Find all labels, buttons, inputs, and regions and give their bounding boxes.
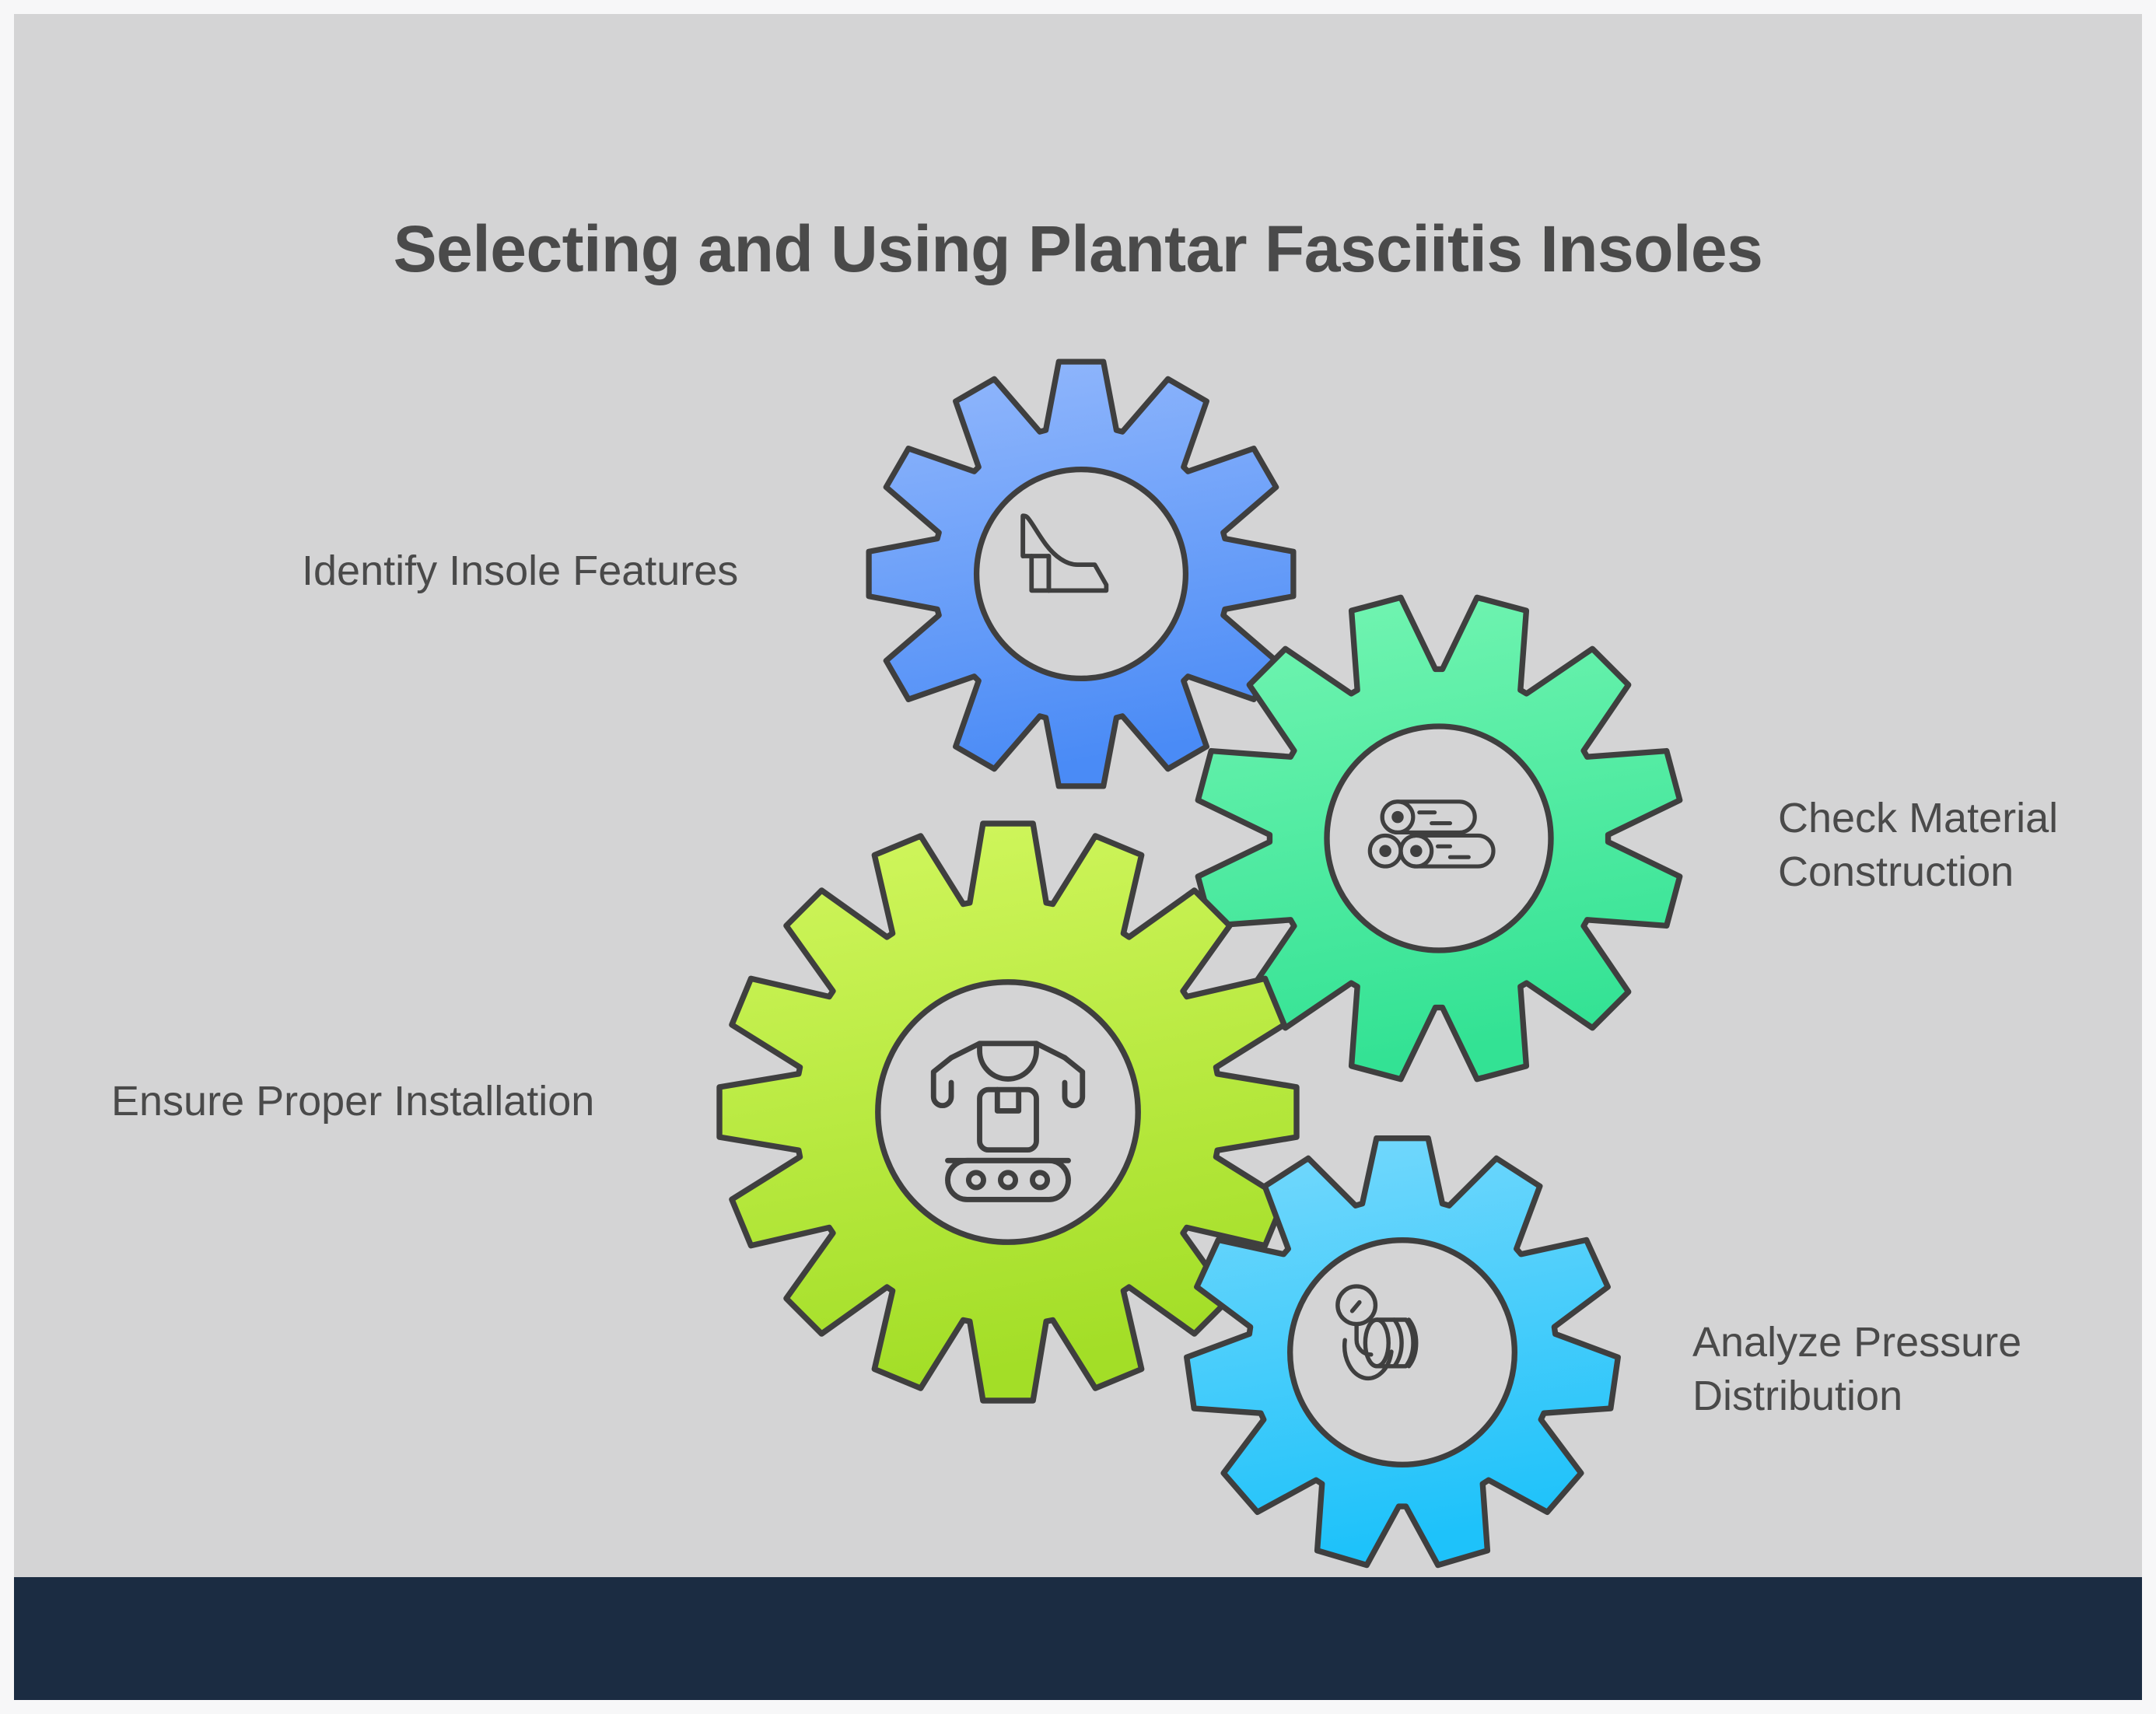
- infographic-body: Selecting and Using Plantar Fasciitis In…: [14, 14, 2142, 1577]
- infographic-canvas: Selecting and Using Plantar Fasciitis In…: [0, 0, 2156, 1714]
- gear-analyze-pressure-distribution[interactable]: [1182, 1132, 1622, 1572]
- step-label-identify-insole-features: Identify Insole Features: [302, 544, 738, 598]
- step-label-ensure-proper-installation: Ensure Proper Installation: [111, 1075, 594, 1128]
- page-title: Selecting and Using Plantar Fasciitis In…: [14, 213, 2142, 285]
- step-label-analyze-pressure-distribution: Analyze Pressure Distribution: [1692, 1316, 2021, 1423]
- step-label-check-material-construction: Check Material Construction: [1778, 792, 2058, 899]
- footer-bar: [14, 1577, 2142, 1700]
